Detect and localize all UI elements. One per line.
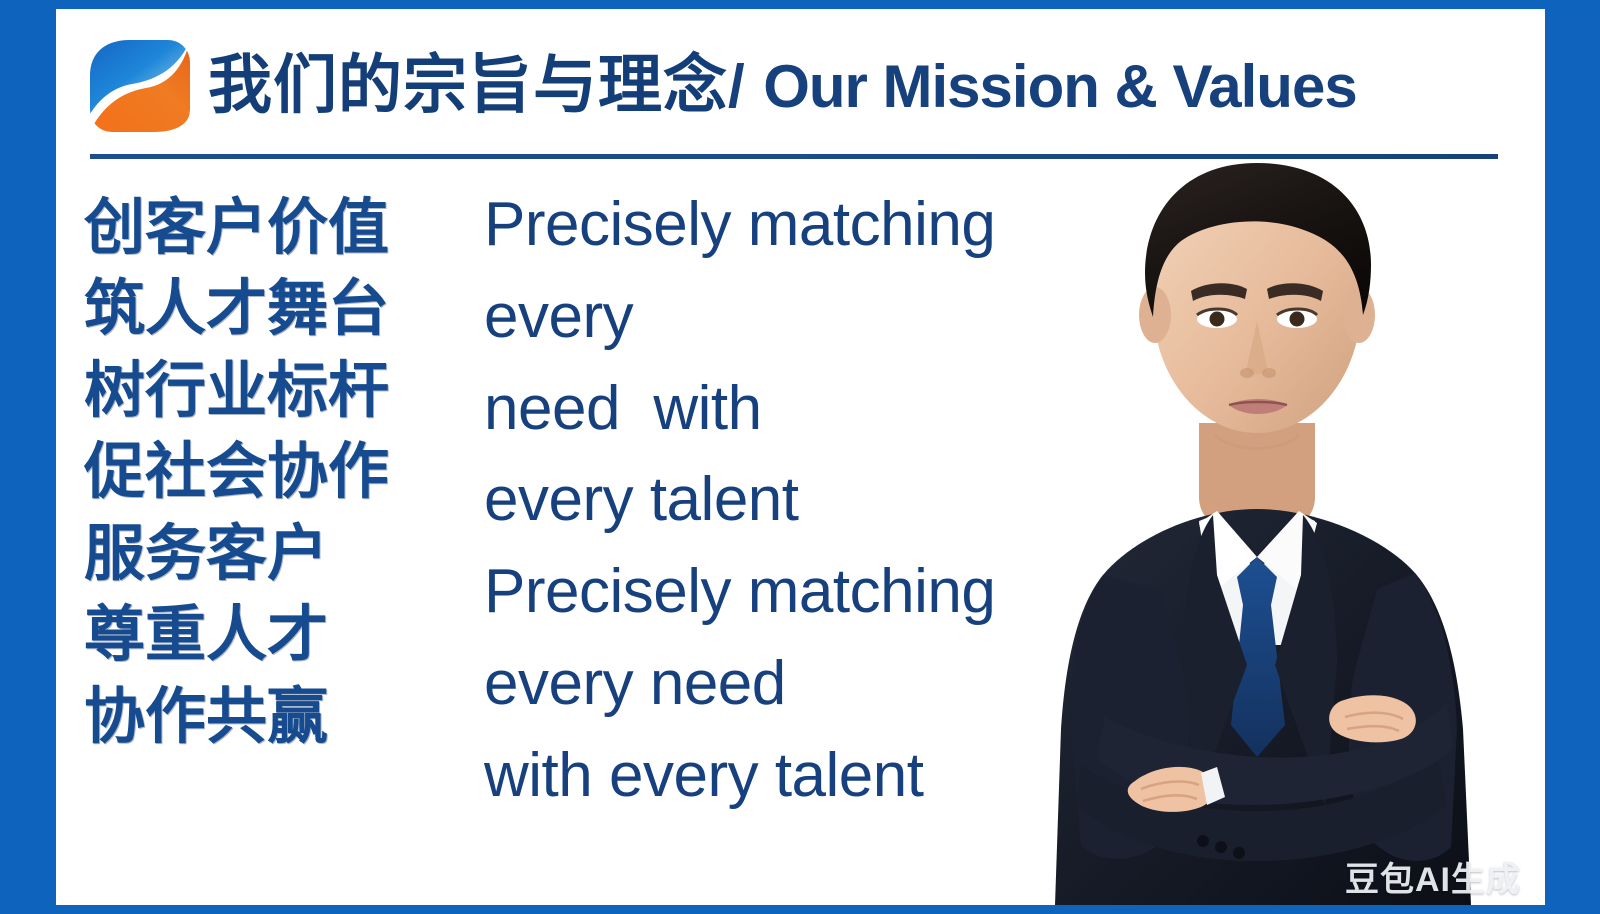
ai-watermark: 豆包AI生成 xyxy=(1345,852,1521,901)
frame-border-top xyxy=(0,0,1600,9)
chinese-slogan-line: 树行业标杆 xyxy=(84,350,444,431)
chinese-slogan-line: 创客户价值 xyxy=(84,187,444,268)
header: 我们的宗旨与理念/ Our Mission & Values xyxy=(88,27,1508,145)
english-statement-line: with every talent xyxy=(484,730,1124,822)
company-wave-logo-icon xyxy=(88,36,192,136)
frame-border-left xyxy=(0,0,56,914)
page-title-chinese: 我们的宗旨与理念 xyxy=(208,53,728,118)
page-title-separator: / xyxy=(728,56,746,117)
slide-root: 我们的宗旨与理念/ Our Mission & Values 创客户价值 筑人才… xyxy=(0,0,1600,914)
chinese-slogan-line: 尊重人才 xyxy=(84,594,444,675)
mission-body: 创客户价值 筑人才舞台 树行业标杆 促社会协作 服务客户 尊重人才 协作共赢 P… xyxy=(56,169,1545,899)
english-statement-line: Precisely matching xyxy=(484,546,1124,638)
chinese-slogan-line: 筑人才舞台 xyxy=(84,268,444,349)
page-title: 我们的宗旨与理念/ Our Mission & Values xyxy=(208,53,1357,118)
english-statement-column: Precisely matching every need with every… xyxy=(484,179,1124,821)
english-statement-line: Precisely matching xyxy=(484,179,1124,271)
page-title-english: Our Mission & Values xyxy=(763,56,1357,117)
header-divider xyxy=(90,154,1498,159)
english-statement-line: every need xyxy=(484,638,1124,730)
english-statement-line: every xyxy=(484,271,1124,363)
english-statement-line: need with xyxy=(484,363,1124,455)
english-statement-line: every talent xyxy=(484,454,1124,546)
frame-border-bottom xyxy=(0,905,1600,914)
content-card: 我们的宗旨与理念/ Our Mission & Values 创客户价值 筑人才… xyxy=(56,9,1545,905)
chinese-slogan-column: 创客户价值 筑人才舞台 树行业标杆 促社会协作 服务客户 尊重人才 协作共赢 xyxy=(84,187,444,757)
chinese-slogan-line: 促社会协作 xyxy=(84,431,444,512)
chinese-slogan-line: 服务客户 xyxy=(84,513,444,594)
chinese-slogan-line: 协作共赢 xyxy=(84,676,444,757)
frame-border-right xyxy=(1545,0,1600,914)
